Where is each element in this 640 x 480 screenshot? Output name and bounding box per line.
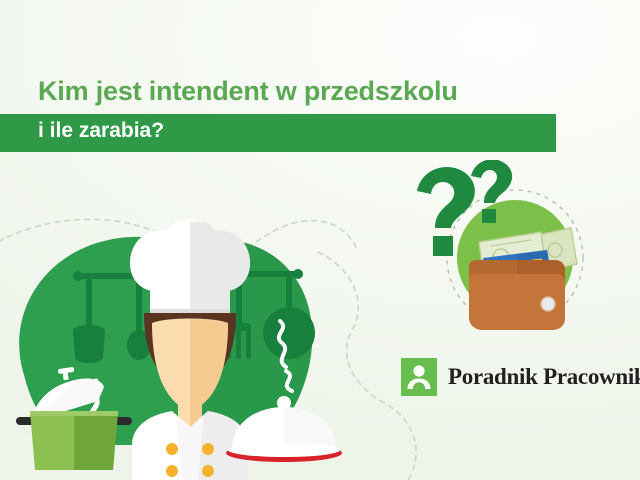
brand-logo[interactable]: Poradnik Pracownika — [401, 358, 640, 396]
headline-line-2: i ile zarabia? — [38, 119, 164, 143]
poster-canvas: Kim jest intendent w przedszkolu i ile z… — [0, 0, 640, 480]
headline-line-1: Kim jest intendent w przedszkolu — [38, 76, 458, 107]
person-icon — [401, 358, 437, 396]
brand-name: Poradnik Pracownika — [448, 364, 640, 390]
chef-illustration-svg — [0, 205, 380, 480]
wallet-illustration — [405, 160, 600, 340]
chef-illustration — [0, 205, 380, 480]
wallet-illustration-svg — [405, 160, 600, 340]
wallet — [469, 260, 565, 330]
